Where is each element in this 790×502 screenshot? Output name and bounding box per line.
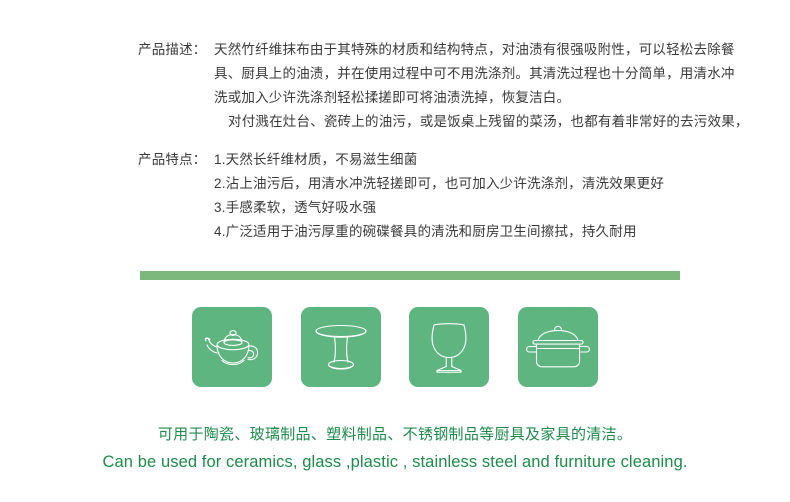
- product-description-row: 产品描述： 天然竹纤维抹布由于其特殊的材质和结构特点，对油渍有很强吸附性，可以轻…: [138, 38, 698, 134]
- product-description-block: 产品描述： 天然竹纤维抹布由于其特殊的材质和结构特点，对油渍有很强吸附性，可以轻…: [138, 38, 698, 134]
- feature-line-2: 2.沾上油污后，用清水冲洗轻搓即可，也可加入少许洗涤剂，清洗效果更好: [214, 172, 698, 196]
- product-features-label: 产品特点：: [138, 148, 214, 172]
- product-features-row: 产品特点： 1.天然长纤维材质，不易滋生细菌 2.沾上油污后，用清水冲洗轻搓即可…: [138, 148, 698, 244]
- description-line-3: 洗或加入少许洗涤剂轻松揉搓即可将油渍洗掉，恢复洁白。: [214, 86, 749, 110]
- table-icon: [312, 321, 370, 373]
- cooking-pot-icon-tile: [518, 307, 598, 387]
- feature-line-4: 4.广泛适用于油污厚重的碗碟餐具的清洗和厨房卫生间擦拭，持久耐用: [214, 220, 698, 244]
- product-features-block: 产品特点： 1.天然长纤维材质，不易滋生细菌 2.沾上油污后，用清水冲洗轻搓即可…: [138, 148, 698, 244]
- green-divider-bar: [140, 271, 680, 280]
- caption-chinese: 可用于陶瓷、玻璃制品、塑料制品、不锈钢制品等厨具及家具的清洁。: [0, 424, 790, 446]
- teapot-icon-tile: [192, 307, 272, 387]
- usage-icon-row: [192, 307, 598, 387]
- description-line-2: 具、厨具上的油渍，并在使用过程中可不用洗涤剂。其清洗过程也十分简单，用清水冲: [214, 62, 749, 86]
- caption-english: Can be used for ceramics, glass ,plastic…: [0, 450, 790, 474]
- table-icon-tile: [301, 307, 381, 387]
- wine-glass-icon: [424, 319, 474, 375]
- product-description-label: 产品描述：: [138, 38, 214, 62]
- description-line-1: 天然竹纤维抹布由于其特殊的材质和结构特点，对油渍有很强吸附性，可以轻松去除餐: [214, 38, 749, 62]
- product-features-lines: 1.天然长纤维材质，不易滋生细菌 2.沾上油污后，用清水冲洗轻搓即可，也可加入少…: [214, 148, 698, 244]
- teapot-icon: [201, 323, 263, 371]
- description-line-4: 对付溅在灶台、瓷砖上的油污，或是饭桌上残留的菜汤，也都有着非常好的去污效果，: [214, 110, 749, 134]
- product-description-lines: 天然竹纤维抹布由于其特殊的材质和结构特点，对油渍有很强吸附性，可以轻松去除餐 具…: [214, 38, 749, 134]
- feature-line-3: 3.手感柔软，透气好吸水强: [214, 196, 698, 220]
- wine-glass-icon-tile: [409, 307, 489, 387]
- feature-line-1: 1.天然长纤维材质，不易滋生细菌: [214, 148, 698, 172]
- cooking-pot-icon: [525, 322, 591, 372]
